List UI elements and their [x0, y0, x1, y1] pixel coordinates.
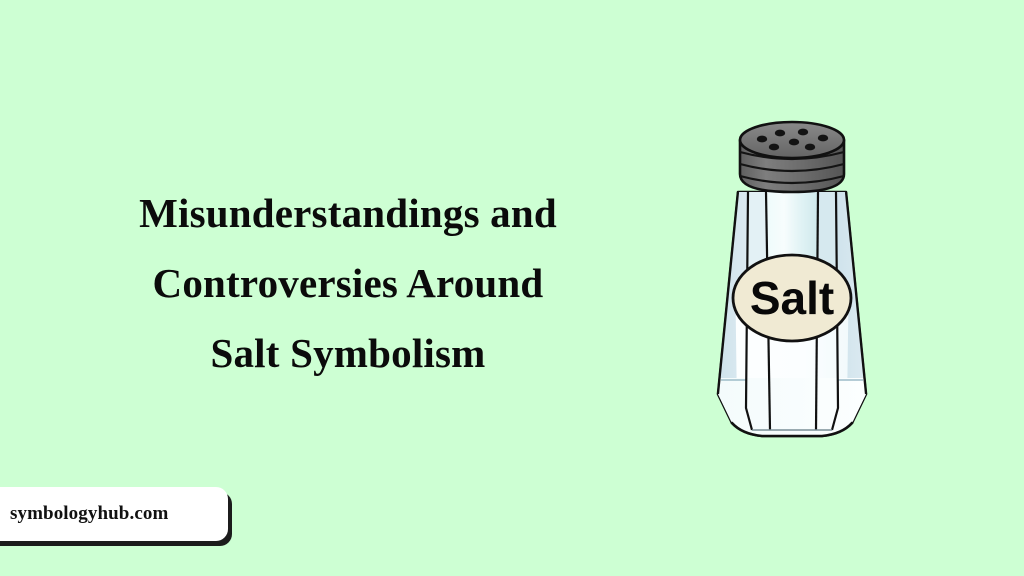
salt-shaker-illustration: Salt	[690, 108, 894, 438]
cap-hole-3	[798, 129, 808, 136]
cap-hole-5	[769, 144, 779, 151]
page-title: Misunderstandings and Controversies Arou…	[48, 178, 648, 388]
cap-hole-1	[757, 136, 767, 143]
title-line-3: Salt Symbolism	[48, 318, 648, 388]
watermark-site-name: symbologyhub.com	[10, 503, 168, 525]
cap-hole-7	[805, 144, 815, 151]
salt-shaker-svg: Salt	[690, 108, 894, 438]
salt-fill-base	[718, 378, 866, 436]
slide-canvas: Misunderstandings and Controversies Arou…	[0, 0, 1024, 576]
cap-hole-4	[818, 135, 828, 142]
title-line-2: Controversies Around	[48, 248, 648, 318]
salt-label: Salt	[733, 255, 851, 341]
watermark-badge[interactable]: symbologyhub.com	[0, 487, 228, 541]
cap-hole-2	[775, 130, 785, 137]
salt-label-text: Salt	[750, 272, 834, 324]
shaker-cap	[740, 122, 844, 192]
cap-hole-6	[789, 139, 799, 146]
title-line-1: Misunderstandings and	[48, 178, 648, 248]
